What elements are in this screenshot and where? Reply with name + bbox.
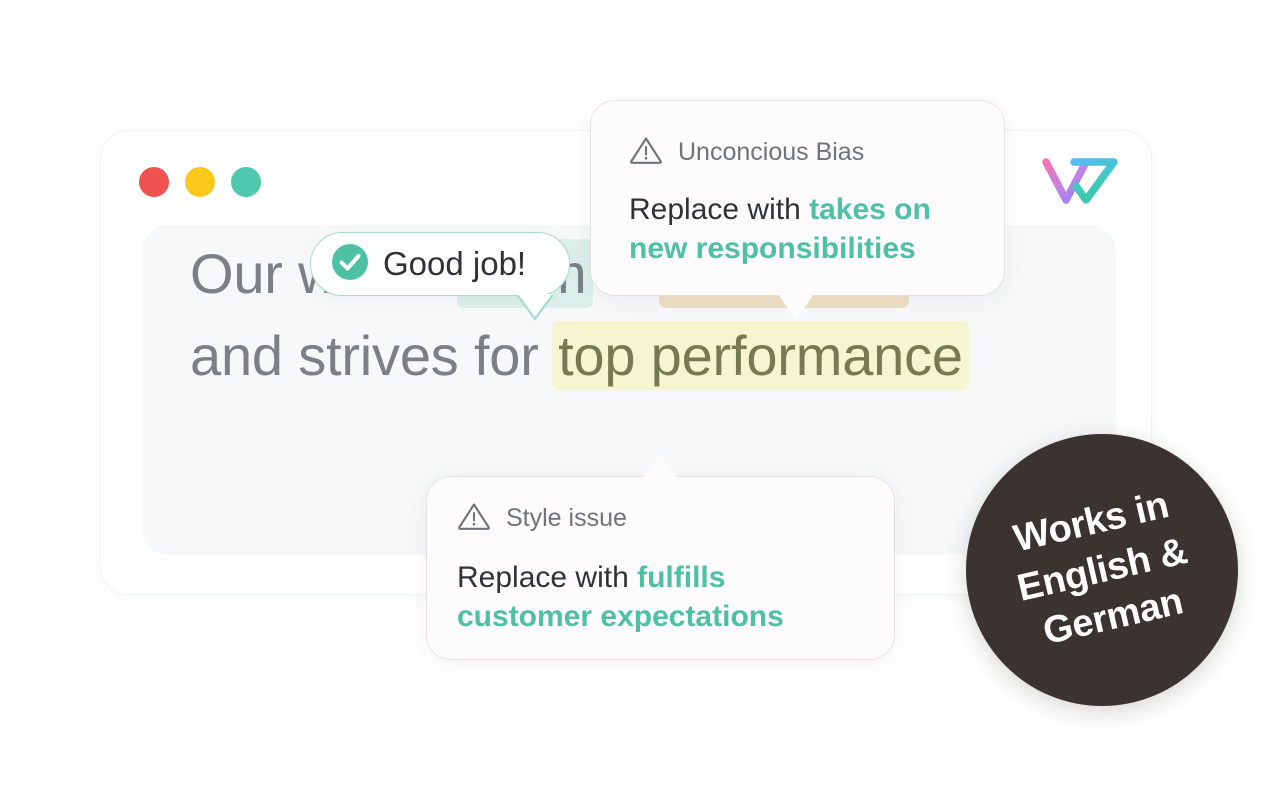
tooltip-body: Replace with fulfills customer expectati… (457, 558, 864, 636)
good-job-bubble[interactable]: Good job! (310, 232, 570, 296)
tooltip-style-issue[interactable]: Style issue Replace with fulfills custom… (427, 477, 894, 659)
wordtune-v-logo-icon (1041, 153, 1119, 209)
tooltip-header: Unconcious Bias (629, 135, 972, 170)
text-segment: and strives for (190, 324, 554, 387)
window-maximize-button[interactable] (231, 167, 261, 197)
tooltip-title: Unconcious Bias (678, 138, 864, 167)
tooltip-header: Style issue (457, 501, 864, 536)
highlight-top-performance[interactable]: top performance (552, 321, 969, 390)
good-job-bubble-tail-inner (518, 294, 552, 317)
good-job-label: Good job! (383, 245, 526, 283)
warning-triangle-icon (457, 501, 491, 536)
tooltip-body-prefix: Replace with (457, 561, 637, 594)
tooltip-body-prefix: Replace with (629, 193, 809, 226)
window-minimize-button[interactable] (185, 167, 215, 197)
window-close-button[interactable] (139, 167, 169, 197)
badge-text: Works in English & German (1002, 480, 1203, 661)
works-in-languages-badge: Works in English & German (966, 434, 1238, 706)
document-line-2: and strives for top performance (190, 315, 1090, 397)
tooltip-title: Style issue (506, 504, 627, 533)
tooltip-unconcious-bias[interactable]: Unconcious Bias Replace with takes on ne… (591, 101, 1004, 295)
warning-triangle-icon (629, 135, 663, 170)
tooltip-body: Replace with takes on new responsibiliti… (629, 190, 972, 268)
traffic-light-controls (139, 167, 261, 197)
check-circle-icon (331, 243, 369, 286)
